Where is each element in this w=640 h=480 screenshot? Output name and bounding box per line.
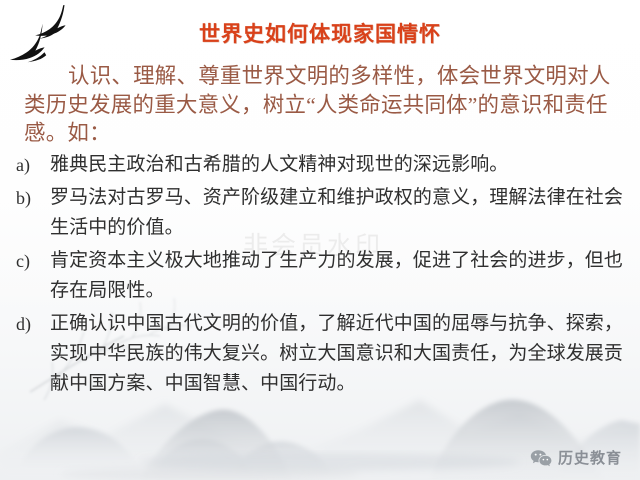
list-item: d) 正确认识中国古代文明的价值，了解近代中国的屈辱与抗争、探索，实现中华民族的…	[14, 309, 628, 399]
list-item: c) 肯定资本主义极大地推动了生产力的发展，促进了社会的进步，但也存在局限性。	[14, 246, 628, 306]
list-item: a) 雅典民主政治和古希腊的人文精神对现世的深远影响。	[14, 150, 628, 180]
bullet-list: a) 雅典民主政治和古希腊的人文精神对现世的深远影响。 b) 罗马法对古罗马、资…	[14, 150, 628, 402]
list-item-text: 肯定资本主义极大地推动了生产力的发展，促进了社会的进步，但也存在局限性。	[50, 246, 628, 306]
mid-rocks	[18, 427, 332, 480]
intro-paragraph: 认识、理解、尊重世界文明的多样性，体会世界文明对人类历史发展的重大意义，树立“人…	[24, 62, 620, 148]
list-item-text: 罗马法对古罗马、资产阶级建立和维护政权的意义，理解法律在社会生活中的价值。	[50, 183, 628, 243]
far-ridge	[0, 400, 640, 480]
channel-name: 历史教育	[558, 447, 622, 468]
list-item: b) 罗马法对古罗马、资产阶级建立和维护政权的意义，理解法律在社会生活中的价值。	[14, 183, 628, 243]
list-marker: c)	[14, 246, 50, 276]
slide-canvas: 世界史如何体现家国情怀 认识、理解、尊重世界文明的多样性，体会世界文明对人类历史…	[0, 0, 640, 480]
list-item-text: 正确认识中国古代文明的价值，了解近代中国的屈辱与抗争、探索，实现中华民族的伟大复…	[50, 309, 628, 399]
water-haze	[60, 453, 520, 480]
wechat-icon	[530, 449, 552, 467]
list-marker: a)	[14, 150, 50, 180]
slide-title: 世界史如何体现家国情怀	[0, 18, 640, 48]
list-marker: d)	[14, 309, 50, 339]
list-item-text: 雅典民主政治和古希腊的人文精神对现世的深远影响。	[50, 150, 628, 180]
channel-logo: 历史教育	[530, 447, 622, 468]
list-marker: b)	[14, 183, 50, 213]
